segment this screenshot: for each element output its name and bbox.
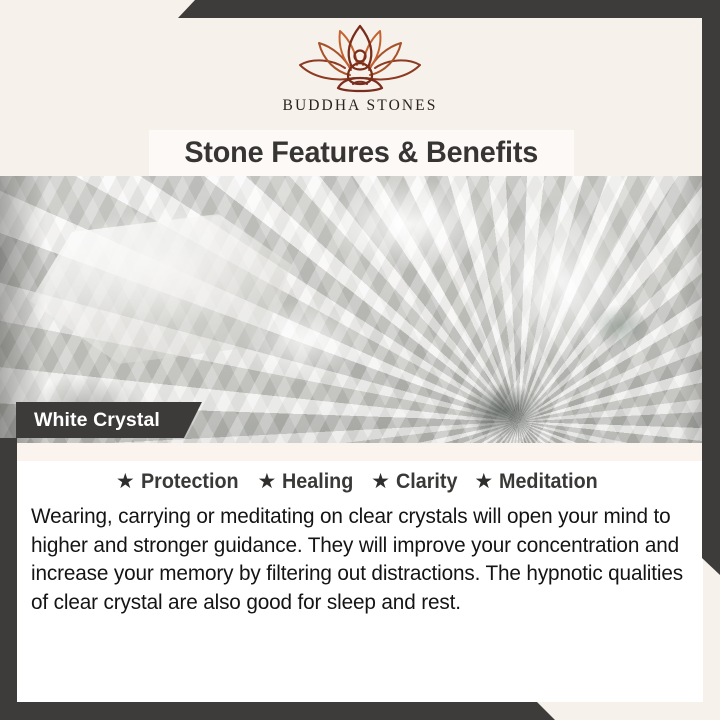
- content-panel: ★ Protection ★ Healing ★ Clarity ★ Medit…: [17, 443, 703, 702]
- decorative-frame-right: [702, 0, 720, 575]
- stone-features-card: BUDDHA STONES Stone Features & Benefits …: [0, 0, 720, 720]
- star-icon: ★: [116, 471, 135, 492]
- star-icon: ★: [257, 471, 276, 492]
- decorative-frame-bottom: [0, 702, 720, 720]
- benefits-row: ★ Protection ★ Healing ★ Clarity ★ Medit…: [17, 461, 703, 496]
- stone-name-tag: White Crystal: [16, 402, 202, 438]
- lotus-meditation-icon: [290, 22, 430, 94]
- star-icon: ★: [474, 471, 493, 492]
- title-band: Stone Features & Benefits: [149, 130, 574, 176]
- benefit-item-protection: ★ Protection: [116, 470, 245, 494]
- benefit-item-meditation: ★ Meditation: [474, 470, 604, 494]
- benefit-label: Healing: [282, 470, 353, 494]
- brand-logo: BUDDHA STONES: [260, 22, 460, 115]
- stone-description: Wearing, carrying or meditating on clear…: [31, 502, 700, 616]
- benefit-label: Protection: [141, 470, 239, 494]
- benefit-label: Meditation: [499, 470, 598, 494]
- brand-name: BUDDHA STONES: [260, 97, 460, 115]
- star-icon: ★: [371, 471, 390, 492]
- page-title: Stone Features & Benefits: [185, 136, 539, 170]
- benefit-item-clarity: ★ Clarity: [371, 470, 461, 494]
- benefit-item-healing: ★ Healing: [257, 470, 358, 494]
- benefit-label: Clarity: [396, 470, 457, 494]
- panel-top-strip: [17, 443, 703, 461]
- stone-name-label: White Crystal: [34, 409, 160, 432]
- decorative-frame-left: [0, 438, 17, 720]
